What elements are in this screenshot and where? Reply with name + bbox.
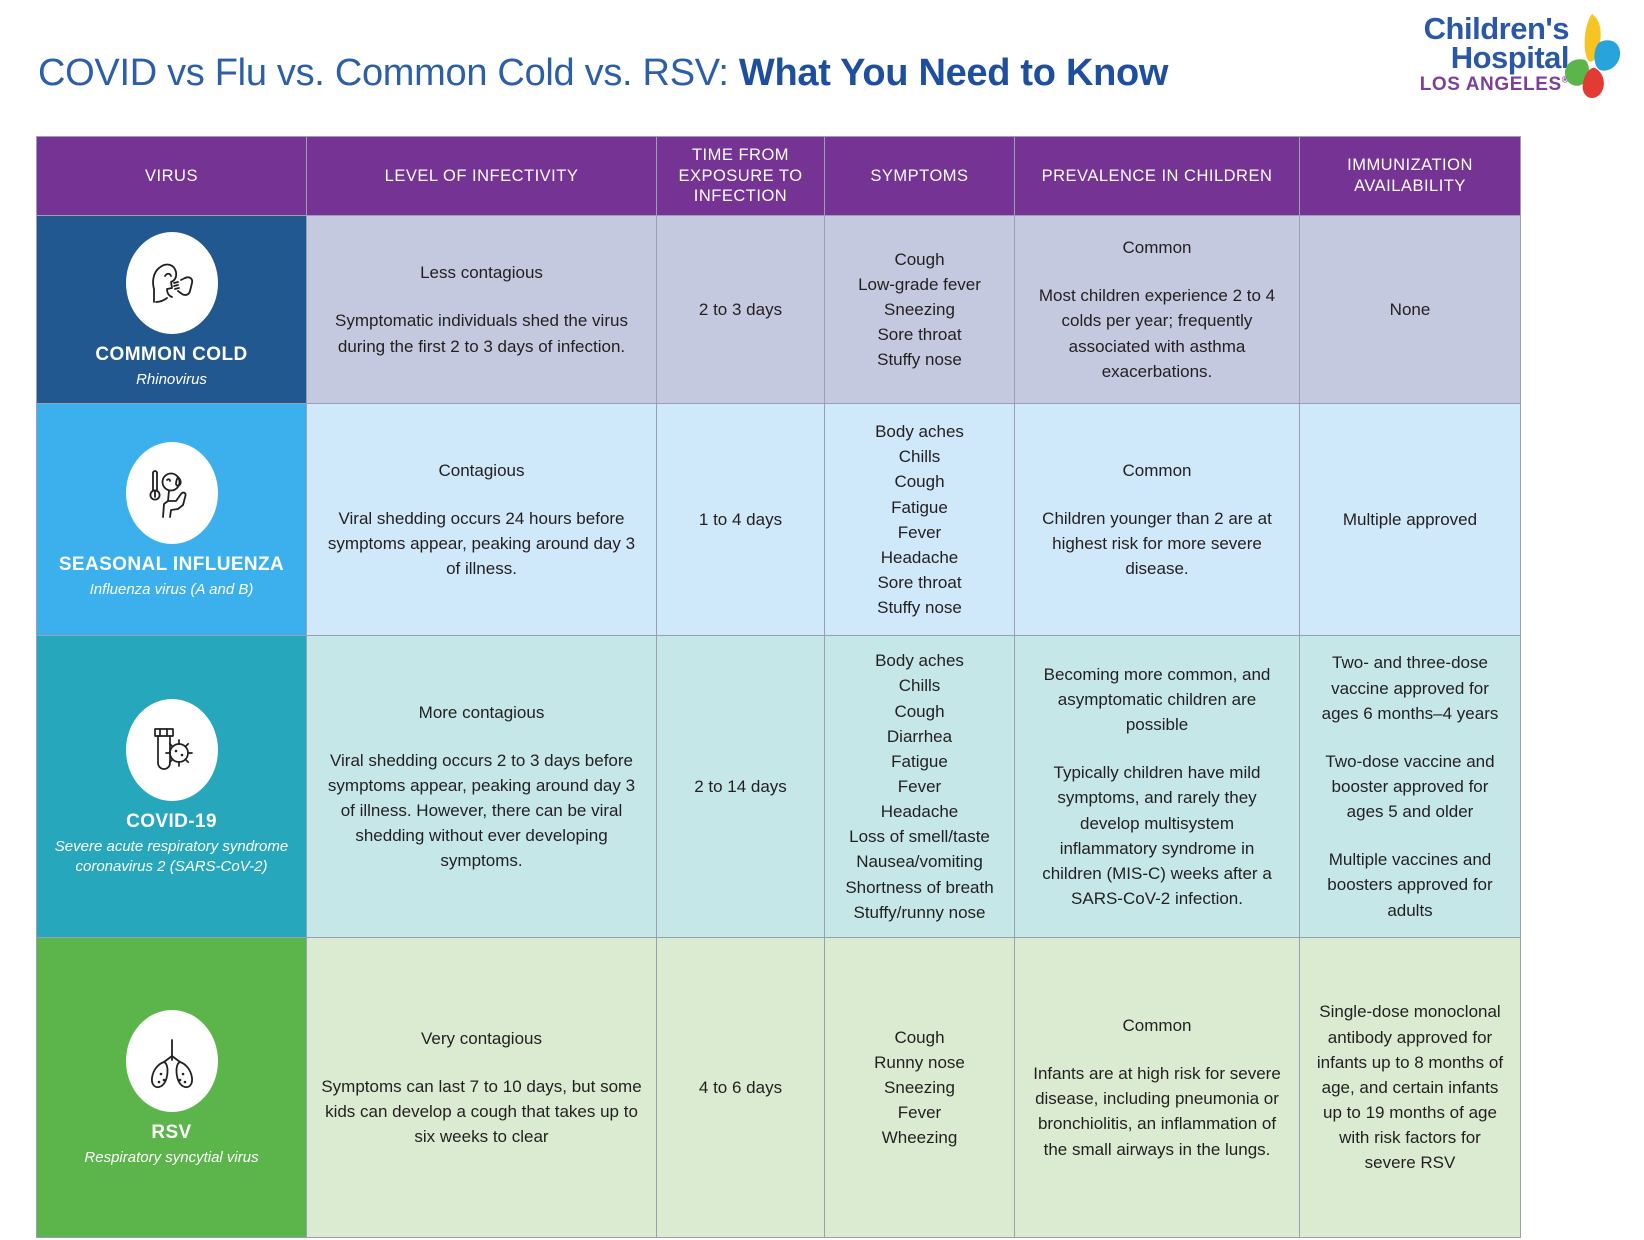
symptoms-cell-seasonal-influenza: Body aches Chills Cough Fatigue Fever He… <box>825 404 1015 636</box>
symptom-item: Headache <box>839 545 1000 570</box>
immunization-item: Single-dose monoclonal antibody approved… <box>1314 999 1506 1175</box>
virus-scientific-name: Severe acute respiratory syndrome corona… <box>45 837 298 876</box>
symptoms-cell-covid-19: Body aches Chills Cough Diarrhea Fatigue… <box>825 636 1015 938</box>
column-header-prevalence: PREVALENCE IN CHILDREN <box>1015 137 1300 216</box>
symptom-item: Stuffy nose <box>839 347 1000 372</box>
page-title-light: COVID vs Flu vs. Common Cold vs. RSV: <box>38 52 729 94</box>
immunization-item: Multiple vaccines and boosters approved … <box>1314 847 1506 922</box>
symptom-item: Fever <box>839 1100 1000 1125</box>
virus-scientific-name: Respiratory syncytial virus <box>45 1148 298 1168</box>
immunization-cell-seasonal-influenza: Multiple approved <box>1300 404 1521 636</box>
infographic-page: COVID vs Flu vs. Common Cold vs. RSV: Wh… <box>0 0 1644 1240</box>
symptoms-cell-rsv: Cough Runny nose Sneezing Fever Wheezing <box>825 937 1015 1237</box>
logo-line-los-angeles: LOS ANGELES® <box>1409 73 1569 97</box>
virus-cell-common-cold: COMMON COLD Rhinovirus <box>37 215 307 403</box>
symptom-item: Sneezing <box>839 297 1000 322</box>
infectivity-cell-rsv: Very contagious Symptoms can last 7 to 1… <box>307 937 657 1237</box>
table-body: COMMON COLD Rhinovirus Less contagious S… <box>37 215 1521 1237</box>
virus-cell-rsv: RSV Respiratory syncytial virus <box>37 937 307 1237</box>
symptom-item: Shortness of breath <box>839 875 1000 900</box>
butterfly-logo-icon <box>1559 10 1623 102</box>
virus-comparison-table: VIRUS LEVEL OF INFECTIVITY TIME FROM EXP… <box>36 136 1521 1238</box>
test-tube-virus-icon <box>126 699 218 801</box>
prevalence-detail: Most children experience 2 to 4 colds pe… <box>1029 283 1285 384</box>
time-cell-common-cold: 2 to 3 days <box>657 215 825 403</box>
table-row: COVID-19 Severe acute respiratory syndro… <box>37 636 1521 938</box>
symptom-item: Loss of smell/taste <box>839 824 1000 849</box>
virus-name: COMMON COLD <box>45 344 298 366</box>
page-title: COVID vs Flu vs. Common Cold vs. RSV: Wh… <box>38 52 1168 95</box>
logo-wordmark: Children's Hospital LOS ANGELES® <box>1409 14 1569 97</box>
virus-name: RSV <box>45 1122 298 1144</box>
infectivity-headline: Contagious <box>321 458 642 483</box>
prevalence-detail: Infants are at high risk for severe dise… <box>1029 1061 1285 1162</box>
symptom-item: Stuffy/runny nose <box>839 900 1000 925</box>
table-header: VIRUS LEVEL OF INFECTIVITY TIME FROM EXP… <box>37 137 1521 216</box>
immunization-cell-common-cold: None <box>1300 215 1521 403</box>
virus-name: SEASONAL INFLUENZA <box>45 554 298 576</box>
time-cell-seasonal-influenza: 1 to 4 days <box>657 404 825 636</box>
prevalence-headline: Becoming more common, and asymptomatic c… <box>1029 662 1285 737</box>
infectivity-headline: Less contagious <box>321 260 642 285</box>
symptom-item: Fatigue <box>839 749 1000 774</box>
column-header-virus: VIRUS <box>37 137 307 216</box>
prevalence-headline: Common <box>1029 1013 1285 1038</box>
infectivity-headline: Very contagious <box>321 1026 642 1051</box>
lungs-icon <box>126 1010 218 1112</box>
immunization-item: Multiple approved <box>1314 507 1506 532</box>
virus-cell-seasonal-influenza: SEASONAL INFLUENZA Influenza virus (A an… <box>37 404 307 636</box>
prevalence-detail: Typically children have mild symptoms, a… <box>1029 760 1285 911</box>
symptom-item: Chills <box>839 444 1000 469</box>
symptom-item: Fever <box>839 520 1000 545</box>
thermometer-fever-icon <box>126 442 218 544</box>
immunization-item: Two-dose vaccine and booster approved fo… <box>1314 749 1506 824</box>
infectivity-detail: Symptomatic individuals shed the virus d… <box>321 308 642 358</box>
column-header-symptoms: SYMPTOMS <box>825 137 1015 216</box>
prevalence-cell-seasonal-influenza: Common Children younger than 2 are at hi… <box>1015 404 1300 636</box>
virus-cell-covid-19: COVID-19 Severe acute respiratory syndro… <box>37 636 307 938</box>
prevalence-headline: Common <box>1029 458 1285 483</box>
table-row: SEASONAL INFLUENZA Influenza virus (A an… <box>37 404 1521 636</box>
page-title-bold: What You Need to Know <box>739 52 1168 94</box>
symptom-item: Cough <box>839 699 1000 724</box>
symptom-item: Diarrhea <box>839 724 1000 749</box>
infectivity-detail: Symptoms can last 7 to 10 days, but some… <box>321 1074 642 1149</box>
immunization-cell-covid-19: Two- and three-dose vaccine approved for… <box>1300 636 1521 938</box>
page-header: COVID vs Flu vs. Common Cold vs. RSV: Wh… <box>0 0 1644 130</box>
infectivity-headline: More contagious <box>321 700 642 725</box>
symptom-item: Cough <box>839 469 1000 494</box>
table-row: COMMON COLD Rhinovirus Less contagious S… <box>37 215 1521 403</box>
infectivity-detail: Viral shedding occurs 24 hours before sy… <box>321 506 642 581</box>
time-cell-covid-19: 2 to 14 days <box>657 636 825 938</box>
immunization-item: Two- and three-dose vaccine approved for… <box>1314 650 1506 725</box>
column-header-infectivity: LEVEL OF INFECTIVITY <box>307 137 657 216</box>
time-cell-rsv: 4 to 6 days <box>657 937 825 1237</box>
table-header-row: VIRUS LEVEL OF INFECTIVITY TIME FROM EXP… <box>37 137 1521 216</box>
symptom-item: Fever <box>839 774 1000 799</box>
infectivity-cell-covid-19: More contagious Viral shedding occurs 2 … <box>307 636 657 938</box>
symptom-item: Body aches <box>839 648 1000 673</box>
infectivity-cell-seasonal-influenza: Contagious Viral shedding occurs 24 hour… <box>307 404 657 636</box>
table-row: RSV Respiratory syncytial virus Very con… <box>37 937 1521 1237</box>
prevalence-cell-rsv: Common Infants are at high risk for seve… <box>1015 937 1300 1237</box>
symptom-item: Cough <box>839 247 1000 272</box>
symptom-item: Chills <box>839 673 1000 698</box>
virus-scientific-name: Rhinovirus <box>45 370 298 390</box>
column-header-immunization: IMMUNIZATION AVAILABILITY <box>1300 137 1521 216</box>
prevalence-headline: Common <box>1029 235 1285 260</box>
symptom-item: Sore throat <box>839 570 1000 595</box>
symptom-item: Sore throat <box>839 322 1000 347</box>
symptom-item: Cough <box>839 1025 1000 1050</box>
column-header-time: TIME FROM EXPOSURE TO INFECTION <box>657 137 825 216</box>
virus-name: COVID-19 <box>45 811 298 833</box>
infectivity-detail: Viral shedding occurs 2 to 3 days before… <box>321 748 642 874</box>
symptom-item: Fatigue <box>839 495 1000 520</box>
logo-los-angeles-text: LOS ANGELES <box>1420 74 1562 95</box>
logo-line-hospital: Hospital <box>1409 43 1569 72</box>
prevalence-detail: Children younger than 2 are at highest r… <box>1029 506 1285 581</box>
symptoms-cell-common-cold: Cough Low-grade fever Sneezing Sore thro… <box>825 215 1015 403</box>
symptom-item: Body aches <box>839 419 1000 444</box>
prevalence-cell-common-cold: Common Most children experience 2 to 4 c… <box>1015 215 1300 403</box>
prevalence-cell-covid-19: Becoming more common, and asymptomatic c… <box>1015 636 1300 938</box>
immunization-cell-rsv: Single-dose monoclonal antibody approved… <box>1300 937 1521 1237</box>
symptom-item: Nausea/vomiting <box>839 849 1000 874</box>
symptom-item: Runny nose <box>839 1050 1000 1075</box>
sneezing-face-icon <box>126 232 218 334</box>
logo-line-childrens: Children's <box>1409 14 1569 43</box>
infectivity-cell-common-cold: Less contagious Symptomatic individuals … <box>307 215 657 403</box>
symptom-item: Stuffy nose <box>839 595 1000 620</box>
symptom-item: Headache <box>839 799 1000 824</box>
symptom-item: Wheezing <box>839 1125 1000 1150</box>
symptom-item: Sneezing <box>839 1075 1000 1100</box>
virus-scientific-name: Influenza virus (A and B) <box>45 580 298 600</box>
symptom-item: Low-grade fever <box>839 272 1000 297</box>
chla-logo: Children's Hospital LOS ANGELES® <box>1409 8 1624 116</box>
immunization-item: None <box>1314 297 1506 322</box>
